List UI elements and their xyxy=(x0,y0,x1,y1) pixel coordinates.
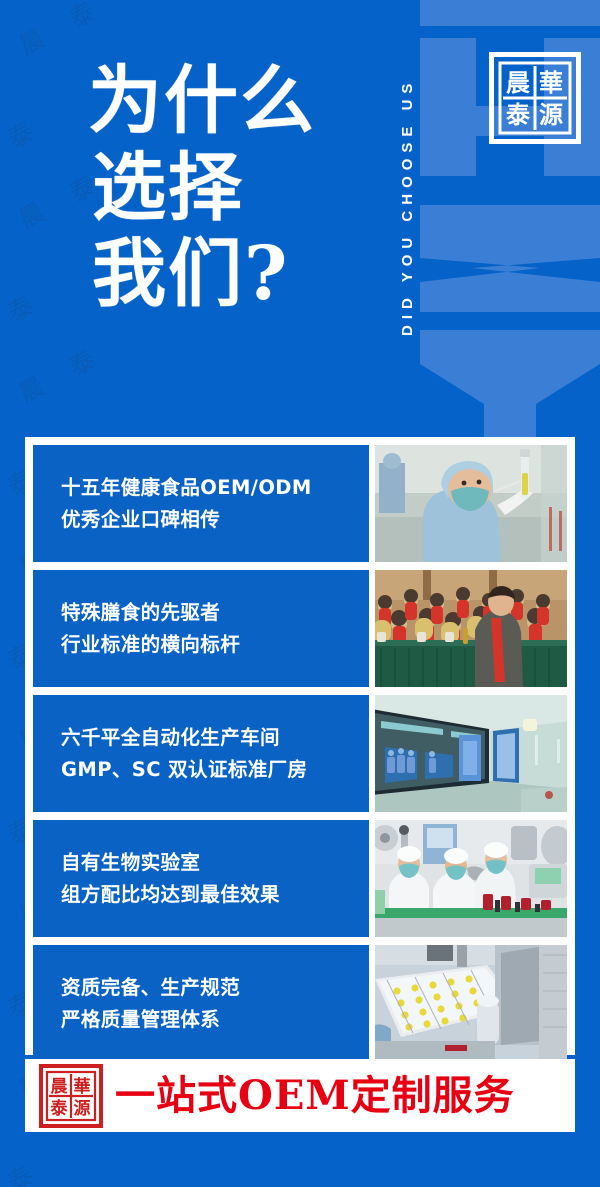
page-title: 为什么 选择 我们? xyxy=(88,58,316,318)
photo-svg xyxy=(375,695,567,812)
brand-seal-icon: 華 源 晨 泰 xyxy=(39,1064,103,1128)
feature-card-text: 六千平全自动化生产车间 GMP、SC 双认证标准厂房 xyxy=(33,695,369,812)
photo-svg xyxy=(375,445,567,562)
photo-svg xyxy=(375,570,567,687)
feature-card[interactable]: 自有生物实验室 组方配比均达到最佳效果 xyxy=(33,820,567,937)
feature-card-line-2: 优秀企业口碑相传 xyxy=(61,504,369,536)
seal-char-yuan: 源 xyxy=(539,101,563,129)
watermark-row: 华 源 晨 泰 xyxy=(0,1133,600,1187)
bottom-cta-banner[interactable]: 華 源 晨 泰 一站式OEM定制服务 xyxy=(25,1059,575,1132)
feature-card-text: 自有生物实验室 组方配比均达到最佳效果 xyxy=(33,820,369,937)
headline-line-1: 为什么 xyxy=(88,58,316,145)
feature-card[interactable]: 资质完备、生产规范 严格质量管理体系 xyxy=(33,945,567,1062)
feature-card-text: 特殊膳食的先驱者 行业标准的横向标杆 xyxy=(33,570,369,687)
feature-card-line-1: 十五年健康食品OEM/ODM xyxy=(61,472,369,504)
feature-card-line-1: 自有生物实验室 xyxy=(61,847,369,879)
feature-card-line-2: 行业标准的横向标杆 xyxy=(61,629,369,661)
brand-seal-icon: 華 源 晨 泰 xyxy=(489,52,581,144)
cta-text: 一站式OEM定制服务 xyxy=(115,1076,515,1116)
headline-line-3: 我们? xyxy=(88,231,316,318)
feature-card-line-1: 六千平全自动化生产车间 xyxy=(61,722,369,754)
production-line-inspection-photo xyxy=(375,820,567,937)
vertical-eyebrow-text: DID YOU CHOOSE US xyxy=(399,22,425,392)
seal-char-chen: 晨 xyxy=(506,69,531,97)
seal-char-tai: 泰 xyxy=(51,1098,69,1119)
seal-char-hua: 華 xyxy=(74,1077,91,1097)
lab-technician-pipette-photo xyxy=(375,445,567,562)
blister-packing-machine-photo xyxy=(375,945,567,1062)
photo-svg xyxy=(375,945,567,1062)
seal-char-tai: 泰 xyxy=(506,101,531,129)
seal-char-chen: 晨 xyxy=(51,1077,69,1097)
feature-cards-panel: 十五年健康食品OEM/ODM 优秀企业口碑相传 xyxy=(25,437,575,1055)
feature-card-line-2: 严格质量管理体系 xyxy=(61,1004,369,1036)
conference-audience-photo xyxy=(375,570,567,687)
poster-header: 为什么 选择 我们? DID YOU CHOOSE US 華 源 晨 泰 xyxy=(0,0,600,437)
feature-card-text: 资质完备、生产规范 严格质量管理体系 xyxy=(33,945,369,1062)
feature-card-line-1: 特殊膳食的先驱者 xyxy=(61,597,369,629)
brand-seal-svg: 華 源 晨 泰 xyxy=(489,52,581,144)
seal-char-yuan: 源 xyxy=(74,1098,91,1119)
feature-card[interactable]: 十五年健康食品OEM/ODM 优秀企业口碑相传 xyxy=(33,445,567,562)
feature-card-text: 十五年健康食品OEM/ODM 优秀企业口碑相传 xyxy=(33,445,369,562)
feature-card[interactable]: 六千平全自动化生产车间 GMP、SC 双认证标准厂房 xyxy=(33,695,567,812)
seal-char-hua: 華 xyxy=(539,69,563,97)
photo-svg xyxy=(375,820,567,937)
brand-seal-svg: 華 源 晨 泰 xyxy=(39,1064,103,1128)
headline-line-2: 选择 xyxy=(88,145,316,232)
feature-card-line-2: 组方配比均达到最佳效果 xyxy=(61,879,369,911)
cleanroom-corridor-photo xyxy=(375,695,567,812)
feature-card[interactable]: 特殊膳食的先驱者 行业标准的横向标杆 xyxy=(33,570,567,687)
promotional-poster: 华 源 晨 泰 华 源 晨 泰 华 源 晨 泰 华 源 晨 泰 华 源 晨 泰 … xyxy=(0,0,600,1187)
feature-card-line-2: GMP、SC 双认证标准厂房 xyxy=(61,754,369,786)
feature-card-line-1: 资质完备、生产规范 xyxy=(61,972,369,1004)
